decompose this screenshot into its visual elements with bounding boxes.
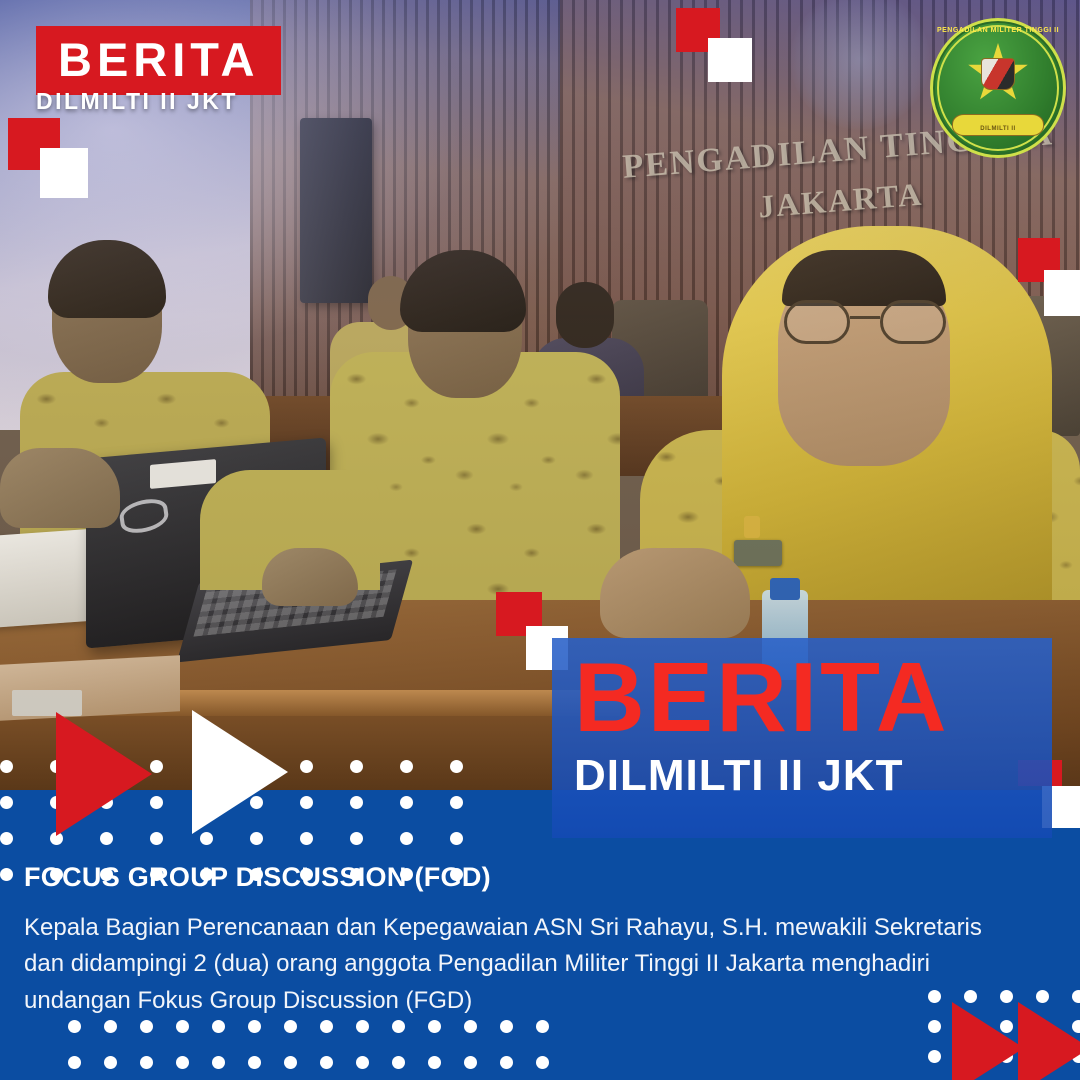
decor-square-white — [1044, 270, 1080, 316]
decor-dot — [104, 1056, 117, 1069]
decor-dot — [400, 832, 413, 845]
decor-square-white — [40, 148, 88, 198]
person-right-hands — [600, 548, 750, 638]
decor-triangle-white — [192, 710, 288, 834]
decor-dot — [0, 760, 13, 773]
decor-dot — [140, 1056, 153, 1069]
decor-dot — [104, 1020, 117, 1033]
decor-dot — [284, 1020, 297, 1033]
poster-root: PENGADILAN TINGGI A JAKARTA — [0, 0, 1080, 1080]
decor-dot — [320, 1020, 333, 1033]
decor-dot — [400, 760, 413, 773]
decor-dot — [428, 1056, 441, 1069]
decor-dot — [350, 832, 363, 845]
decor-dot — [392, 1056, 405, 1069]
name-tag — [734, 540, 782, 566]
lens-bridge — [850, 316, 880, 319]
seal-text-bottom: DILMILTI II — [930, 126, 1066, 132]
decor-dot — [176, 1020, 189, 1033]
lens-left — [784, 300, 850, 344]
decor-dot — [536, 1056, 549, 1069]
header-badge: BERITA — [36, 26, 281, 95]
decor-dot — [176, 1056, 189, 1069]
water-bottle-cap — [770, 578, 800, 600]
decor-dot — [248, 1020, 261, 1033]
decor-dot — [928, 990, 941, 1003]
decor-dot — [464, 1056, 477, 1069]
berita-banner: BERITA DILMILTI II JKT — [552, 638, 1052, 838]
header-subtitle: DILMILTI II JKT — [36, 88, 238, 115]
decor-dot — [500, 1056, 513, 1069]
seal-shield-icon — [981, 58, 1015, 90]
decor-dot — [400, 796, 413, 809]
decor-dot — [450, 796, 463, 809]
decor-dot — [212, 1020, 225, 1033]
pengadilan-militer-seal-icon: PENGADILAN MILITER TINGGI II DILMILTI II — [930, 18, 1066, 158]
eyeglasses — [780, 300, 950, 344]
background-person-head — [556, 282, 614, 348]
decor-dot — [350, 796, 363, 809]
decor-triangle-red — [952, 1002, 1024, 1080]
decor-dot — [450, 760, 463, 773]
decor-dot — [450, 832, 463, 845]
decor-dot — [428, 1020, 441, 1033]
decor-dot — [356, 1020, 369, 1033]
decor-dot — [284, 1056, 297, 1069]
decor-dot — [536, 1020, 549, 1033]
person-center-hand — [262, 548, 358, 606]
seal-scroll-banner — [952, 114, 1044, 136]
decor-dot — [300, 796, 313, 809]
decor-dot — [0, 868, 13, 881]
decor-triangle-red — [1018, 1002, 1080, 1080]
decor-dot — [68, 1056, 81, 1069]
article-body: Kepala Bagian Perencanaan dan Kepegawaia… — [24, 910, 984, 1019]
decor-dot — [320, 1056, 333, 1069]
decor-square-white — [708, 38, 752, 82]
decor-dot — [500, 1020, 513, 1033]
decor-dot — [212, 1056, 225, 1069]
decor-dot — [356, 1056, 369, 1069]
seal-text-top: PENGADILAN MILITER TINGGI II — [930, 27, 1066, 34]
decor-dot — [300, 832, 313, 845]
decor-dot — [392, 1020, 405, 1033]
article-headline: FOCUS GROUP DISCUSSION (FGD) — [24, 862, 491, 893]
banner-subtitle: DILMILTI II JKT — [574, 754, 904, 798]
uniform-pin — [744, 516, 760, 538]
person-left-hands — [0, 448, 120, 528]
decor-triangle-red — [56, 712, 152, 836]
decor-dot — [68, 1020, 81, 1033]
lens-right — [880, 300, 946, 344]
person-right-hair — [782, 250, 946, 306]
decor-dot — [0, 796, 13, 809]
decor-dot — [928, 1050, 941, 1063]
decor-dot — [300, 760, 313, 773]
decor-dot — [140, 1020, 153, 1033]
header-badge-label: BERITA — [58, 36, 259, 83]
decor-dot — [928, 1020, 941, 1033]
decor-dot — [350, 760, 363, 773]
speaker-box — [300, 118, 372, 303]
decor-dot — [464, 1020, 477, 1033]
decor-dot — [0, 832, 13, 845]
decor-dot — [248, 1056, 261, 1069]
banner-title: BERITA — [574, 648, 950, 746]
